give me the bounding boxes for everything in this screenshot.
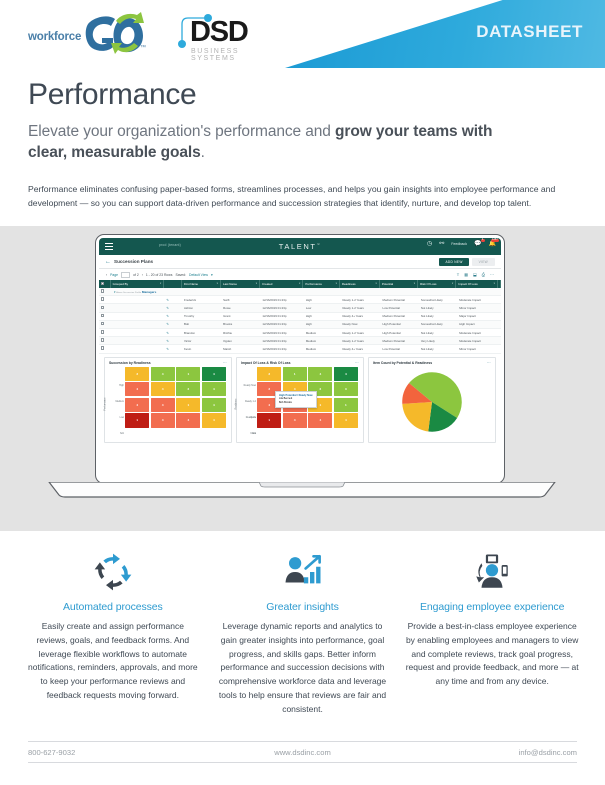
- item-count-pie-card: Item Count by Potential & Readiness ⋯: [368, 357, 496, 443]
- row-range-label: 1 - 20 of 23 Rows: [146, 273, 173, 277]
- laptop-base: [47, 482, 557, 498]
- footer-website: www.dsdinc.com: [211, 748, 394, 757]
- subtitle-part-1: Elevate your organization's performance …: [28, 123, 335, 140]
- page-title: Performance: [28, 78, 577, 112]
- row-checkbox[interactable]: [101, 338, 104, 341]
- title-block: Performance Elevate your organization's …: [0, 68, 605, 210]
- cell-first: Ashton: [182, 304, 221, 312]
- card-menu-icon[interactable]: ⋯: [223, 361, 227, 365]
- group-name: Managers: [142, 290, 156, 294]
- environment-label: prod (tenant): [159, 243, 181, 247]
- bell-icon[interactable]: 🔔1287: [489, 241, 496, 247]
- cell-position: 0.00: [499, 345, 501, 353]
- footer-phone: 800-627-9032: [28, 748, 211, 757]
- cell-risk: Not Likely: [419, 329, 457, 337]
- feature-title: Automated processes: [26, 601, 200, 613]
- col-last-name[interactable]: Last Name▾: [221, 280, 260, 288]
- y-tick-label: Low: [108, 410, 124, 426]
- person-devices-icon: [405, 549, 579, 595]
- chart-title: Impact Of Loss & Risk Of Loss: [237, 358, 363, 367]
- row-select-cell: [99, 345, 111, 353]
- heatmap-cell[interactable]: 1: [176, 367, 200, 381]
- row-edit-cell: ✎: [164, 345, 182, 353]
- cell-first: Frederick: [182, 296, 221, 304]
- footer-email: info@dsdinc.com: [394, 748, 577, 757]
- cell-performance: Medium: [304, 345, 341, 353]
- cell-potential: Medium Potential: [381, 296, 419, 304]
- heatmap-tooltip: High Potential / Ready Now Lila Bennett …: [275, 391, 317, 408]
- col-grouped-by[interactable]: Grouped By▾: [111, 280, 165, 288]
- feature-body: Easily create and assign performance rev…: [26, 620, 200, 703]
- chart-title: Item Count by Potential & Readiness: [369, 358, 495, 367]
- cell-risk: Not Likely: [419, 304, 457, 312]
- edit-row-icon[interactable]: ✎: [166, 306, 169, 310]
- col-label: Risk Of Loss: [420, 282, 436, 286]
- cell-position: 0.00: [499, 329, 501, 337]
- sub-bar-buttons: ADD NEW VIEW: [439, 258, 495, 266]
- sort-caret-icon[interactable]: ▾: [336, 280, 337, 288]
- col-readiness[interactable]: Readiness▾: [340, 280, 380, 288]
- col-first-name[interactable]: First Name▾: [182, 280, 221, 288]
- workforce-go-logo: workforce ™: [28, 12, 153, 58]
- heatmap-cell[interactable]: 4: [334, 413, 358, 427]
- add-new-button[interactable]: ADD NEW: [439, 258, 468, 266]
- y-tick-label: Medium: [108, 394, 124, 410]
- brand-tm: ™: [317, 242, 322, 246]
- cell-impact: Moderate Impact: [457, 329, 499, 337]
- table-row[interactable]: ✎KevinMarsh12/16/2019 01:23pMediumReady …: [99, 345, 501, 353]
- col-label: Readiness: [342, 282, 356, 286]
- person-bar-chart-icon: [216, 549, 390, 595]
- cell-created: 12/16/2019 01:23p: [260, 304, 304, 312]
- cell-performance: Medium: [304, 329, 341, 337]
- cell-risk: Not Likely: [419, 312, 457, 320]
- saved-view-select[interactable]: Default View: [189, 273, 208, 277]
- select-all-checkbox[interactable]: [101, 282, 104, 285]
- col-edit: [164, 280, 182, 288]
- row-checkbox[interactable]: [101, 314, 104, 317]
- cell-empty: [111, 296, 165, 304]
- row-select-cell: [99, 296, 111, 304]
- feature-title: Engaging employee experience: [405, 601, 579, 613]
- chart-title: Succession by Readiness: [105, 358, 231, 367]
- row-select-cell: [99, 329, 111, 337]
- cell-readiness: Ready 1-2 Years: [340, 329, 380, 337]
- card-menu-icon[interactable]: ⋯: [487, 361, 491, 365]
- row-select-cell: [99, 312, 111, 320]
- col-potential[interactable]: Potential▾: [380, 280, 418, 288]
- cell-first: Timothy: [182, 312, 221, 320]
- heatmap-cell[interactable]: 3: [125, 367, 149, 381]
- cell-performance: High: [304, 312, 341, 320]
- col-label: Potential: [382, 282, 393, 286]
- cell-performance: Low: [304, 304, 341, 312]
- edit-row-icon[interactable]: ✎: [166, 347, 169, 351]
- laptop-frame: prod (tenant) TALENT™ ◷ ⚯ Feedback 💬4 🔔1…: [95, 234, 505, 484]
- pie-chart: [369, 367, 495, 437]
- edit-row-icon[interactable]: ✎: [166, 339, 169, 343]
- dsd-logo: DSD BUSINESS SYSTEMS: [172, 10, 284, 60]
- heatmap-cell[interactable]: 4: [151, 367, 175, 381]
- features-row: Automated processes Easily create and as…: [0, 531, 605, 716]
- row-edit-cell: ✎: [164, 312, 182, 320]
- cell-last: Brooks: [221, 320, 260, 328]
- heatmap-cell[interactable]: 4: [334, 367, 358, 381]
- heatmap-cell[interactable]: 4: [176, 413, 200, 427]
- more-options-icon[interactable]: ⋯: [490, 272, 494, 277]
- row-edit-cell: ✎: [164, 296, 182, 304]
- cell-created: 12/16/2019 01:23p: [260, 296, 304, 304]
- row-checkbox[interactable]: [101, 330, 104, 333]
- cell-readiness: Ready 4+ Years: [340, 345, 380, 353]
- chat-icon[interactable]: 💬4: [474, 241, 481, 247]
- sort-caret-icon[interactable]: ▾: [494, 280, 495, 288]
- y-tick-label: Ready 1-2 Years: [240, 394, 256, 410]
- cell-performance: High: [304, 320, 341, 328]
- cell-readiness: Ready Now: [340, 320, 380, 328]
- y-tick-label: Ready 4+ Years: [240, 410, 256, 426]
- col-position[interactable]: Posi: [498, 280, 501, 288]
- next-page-icon[interactable]: ›: [142, 273, 143, 277]
- cell-last: Ogden: [221, 337, 260, 345]
- grid-toolbar-right: T ▦ ⬓ ⎙ ⋯: [457, 272, 494, 277]
- datasheet-page: DATASHEET workforce ™ DSD BUSINESS SYSTE…: [0, 0, 605, 785]
- y-tick-label: N/A: [108, 426, 124, 442]
- breadcrumb: Succession Plans: [114, 259, 153, 264]
- edit-row-icon[interactable]: ✎: [166, 298, 169, 302]
- pie-slice[interactable]: [402, 402, 432, 432]
- dsd-logo-text: DSD: [190, 16, 248, 49]
- tooltip-line: Bob Brooks: [279, 401, 313, 405]
- cell-readiness: Ready 1-2 Years: [340, 337, 380, 345]
- trademark-symbol: ™: [140, 45, 146, 51]
- text-filter-icon[interactable]: T: [457, 272, 459, 277]
- heatmap-cell[interactable]: 4: [125, 398, 149, 412]
- clock-icon[interactable]: ◷: [427, 241, 432, 247]
- cell-potential: Medium Potential: [381, 312, 419, 320]
- talent-app-screenshot: prod (tenant) TALENT™ ◷ ⚯ Feedback 💬4 🔔1…: [99, 238, 501, 480]
- col-label: Performance: [305, 282, 322, 286]
- heatmap-cell[interactable]: 1: [334, 398, 358, 412]
- cell-readiness: Ready 1-2 Years: [340, 296, 380, 304]
- page-footer: 800-627-9032 www.dsdinc.com info@dsdinc.…: [28, 741, 577, 763]
- page-input[interactable]: [121, 272, 130, 278]
- row-checkbox[interactable]: [101, 289, 104, 292]
- succession-plans-table: Grouped By▾ First Name▾ Last Name▾ Creat…: [99, 280, 501, 354]
- cell-last: Swift: [221, 296, 260, 304]
- col-risk-of-loss[interactable]: Risk Of Loss▾: [418, 280, 456, 288]
- dsd-logo-tagline: BUSINESS SYSTEMS: [191, 48, 284, 62]
- app-top-bar-actions: ◷ ⚯ Feedback 💬4 🔔1287: [427, 241, 496, 247]
- back-arrow-icon[interactable]: ←: [105, 259, 111, 265]
- card-menu-icon[interactable]: ⋯: [355, 361, 359, 365]
- cell-last: Rowe: [221, 304, 260, 312]
- circular-arrows-icon: [26, 549, 200, 595]
- go-logo-mark: [82, 12, 148, 61]
- cell-position: 0.00: [499, 312, 501, 320]
- heatmap-cell[interactable]: 1: [283, 367, 307, 381]
- heatmap-cell[interactable]: 4: [125, 382, 149, 396]
- col-label: Posi: [500, 282, 501, 286]
- sort-caret-icon[interactable]: ▾: [376, 280, 377, 288]
- cell-first: Kevin: [182, 345, 221, 353]
- row-select-cell: [99, 337, 111, 345]
- app-top-bar: prod (tenant) TALENT™ ◷ ⚯ Feedback 💬4 🔔1…: [99, 238, 501, 255]
- heatmap-cell[interactable]: 4: [202, 413, 226, 427]
- tooltip-title: High Potential / Ready Now: [279, 394, 313, 397]
- row-checkbox[interactable]: [101, 306, 104, 309]
- select-all-checkbox-cell[interactable]: [99, 280, 111, 288]
- cell-empty: [111, 304, 165, 312]
- app-brand-title: TALENT™: [279, 242, 321, 251]
- sort-caret-icon[interactable]: ▾: [256, 280, 257, 288]
- table-header-row: Grouped By▾ First Name▾ Last Name▾ Creat…: [99, 280, 501, 288]
- y-tick-label: Not: [240, 426, 256, 442]
- cell-risk: Not Likely: [419, 345, 457, 353]
- page-label: Page: [110, 273, 118, 277]
- chart-y-axis-ticks: Ready NowReady 1-2 YearsReady 4+ YearsNo…: [240, 378, 256, 443]
- saved-label: Saved:: [175, 273, 186, 277]
- sort-caret-icon[interactable]: ▾: [299, 280, 300, 288]
- heatmap-cell[interactable]: 4: [151, 398, 175, 412]
- group-caption: Above Succession Profile: [116, 292, 141, 294]
- row-select-cell: [99, 304, 111, 312]
- plug-icon[interactable]: ⚯: [439, 241, 444, 247]
- print-icon[interactable]: ⎙: [482, 272, 485, 277]
- heatmap-cell[interactable]: 4: [202, 398, 226, 412]
- cell-potential: Low Potential: [381, 304, 419, 312]
- succession-by-readiness-card: Succession by Readiness ⋯ Performance Hi…: [104, 357, 232, 443]
- heatmap-cell[interactable]: 4: [308, 413, 332, 427]
- cell-created: 12/16/2019 01:23p: [260, 329, 304, 337]
- feature-automated-processes: Automated processes Easily create and as…: [20, 549, 206, 716]
- cell-readiness: Ready 4+ Years: [340, 312, 380, 320]
- cell-risk: Very Likely: [419, 337, 457, 345]
- col-label: Impact Of Loss: [458, 282, 477, 286]
- col-label: Last Name: [223, 282, 237, 286]
- page-header: DATASHEET workforce ™ DSD BUSINESS SYSTE…: [0, 0, 605, 68]
- cell-position: 0.00: [499, 296, 501, 304]
- chart-y-axis-title: Readiness: [235, 398, 237, 409]
- cell-potential: Medium Potential: [381, 337, 419, 345]
- heatmap-cell[interactable]: 3: [257, 367, 281, 381]
- intro-paragraph: Performance eliminates confusing paper-b…: [28, 182, 577, 211]
- cell-impact: Moderate Impact: [457, 296, 499, 304]
- heatmap-cell[interactable]: 4: [202, 382, 226, 396]
- subtitle-end: .: [201, 144, 205, 161]
- col-impact-of-loss[interactable]: Impact Of Loss▾: [456, 280, 498, 288]
- columns-icon[interactable]: ▦: [464, 272, 468, 277]
- cell-last: Marsh: [221, 345, 260, 353]
- saved-view-caret-icon[interactable]: ▾: [211, 273, 213, 277]
- workforce-logo-word: workforce: [28, 31, 81, 43]
- row-select-cell: [99, 320, 111, 328]
- heatmap-cell[interactable]: 4: [151, 413, 175, 427]
- view-button[interactable]: VIEW: [472, 258, 495, 266]
- cell-empty: [111, 329, 165, 337]
- cell-created: 12/16/2019 01:23p: [260, 345, 304, 353]
- sort-caret-icon[interactable]: ▾: [160, 280, 161, 288]
- cell-performance: High: [304, 296, 341, 304]
- edit-row-icon[interactable]: ✎: [166, 314, 169, 318]
- edit-row-icon[interactable]: ✎: [166, 322, 169, 326]
- bell-badge: 1287: [491, 239, 499, 242]
- cell-position: 0.00: [499, 320, 501, 328]
- y-tick-label: Ready Now: [240, 378, 256, 394]
- cell-impact: Minor Impact: [457, 345, 499, 353]
- cell-impact: Major Impact: [457, 312, 499, 320]
- hamburger-menu-icon[interactable]: [105, 241, 113, 251]
- cell-created: 12/16/2019 01:23p: [260, 320, 304, 328]
- cell-readiness: Ready 1-2 Years: [340, 304, 380, 312]
- col-label: First Name: [184, 282, 198, 286]
- feature-body: Provide a best-in-class employee experie…: [405, 620, 579, 689]
- cell-first: Victor: [182, 337, 221, 345]
- cell-empty: [111, 312, 165, 320]
- cell-potential: High Potential: [381, 329, 419, 337]
- cell-created: 12/16/2019 01:23p: [260, 312, 304, 320]
- cell-risk: Somewhat Likely: [419, 296, 457, 304]
- cell-last: Ritchie: [221, 329, 260, 337]
- col-created[interactable]: Created▾: [260, 280, 303, 288]
- heatmap-cell[interactable]: 4: [283, 413, 307, 427]
- cell-impact: Minor Impact: [457, 304, 499, 312]
- cell-performance: Medium: [304, 337, 341, 345]
- brand-text: TALENT: [279, 242, 317, 251]
- product-screenshot-band: prod (tenant) TALENT™ ◷ ⚯ Feedback 💬4 🔔1…: [0, 226, 605, 531]
- feature-greater-insights: Greater insights Leverage dynamic report…: [210, 549, 396, 716]
- cell-last: Grant: [221, 312, 260, 320]
- row-checkbox[interactable]: [101, 346, 104, 349]
- heatmap-cell[interactable]: 4: [151, 382, 175, 396]
- sort-caret-icon[interactable]: ▾: [217, 280, 218, 288]
- chart-y-axis-title: Performance: [105, 397, 107, 410]
- feature-body: Leverage dynamic reports and analytics t…: [216, 620, 390, 716]
- row-checkbox[interactable]: [101, 297, 104, 300]
- heatmap-cell[interactable]: 3: [334, 382, 358, 396]
- cell-first: Brandon: [182, 329, 221, 337]
- row-checkbox[interactable]: [101, 322, 104, 325]
- export-icon[interactable]: ⬓: [473, 272, 477, 277]
- cell-impact: High Impact: [457, 320, 499, 328]
- page-subtitle: Elevate your organization's performance …: [28, 122, 498, 164]
- cell-empty: [111, 320, 165, 328]
- cell-created: 12/16/2019 01:23p: [260, 337, 304, 345]
- prev-page-icon[interactable]: ‹: [106, 273, 107, 277]
- cell-empty: [111, 345, 165, 353]
- grid-toolbar: ‹ Page of 2 › 1 - 20 of 23 Rows Saved: D…: [99, 269, 501, 280]
- heatmap-cell[interactable]: 1: [125, 413, 149, 427]
- col-performance[interactable]: Performance▾: [303, 280, 340, 288]
- y-tick-label: High: [108, 378, 124, 394]
- cell-risk: Somewhat Likely: [419, 320, 457, 328]
- cell-impact: Moderate Impact: [457, 337, 499, 345]
- cell-potential: High Potential: [381, 320, 419, 328]
- row-edit-cell: ✎: [164, 329, 182, 337]
- col-label: Created: [262, 282, 272, 286]
- row-edit-cell: ✎: [164, 320, 182, 328]
- col-label: Grouped By: [113, 282, 128, 286]
- edit-row-icon[interactable]: ✎: [166, 331, 169, 335]
- cell-position: 0.00: [499, 337, 501, 345]
- heatmap-cell[interactable]: 1: [257, 413, 281, 427]
- row-edit-cell: ✎: [164, 304, 182, 312]
- chat-badge: 4: [481, 239, 485, 242]
- heatmap-cell[interactable]: 1: [176, 398, 200, 412]
- dashboard-charts-row: Succession by Readiness ⋯ Performance Hi…: [99, 354, 501, 443]
- feature-engaging-employee-experience: Engaging employee experience Provide a b…: [399, 549, 585, 716]
- datasheet-label: DATASHEET: [476, 22, 583, 42]
- cell-potential: Low Potential: [381, 345, 419, 353]
- cell-position: 0.00: [499, 304, 501, 312]
- heatmap-cell[interactable]: 2: [176, 382, 200, 396]
- sort-caret-icon[interactable]: ▾: [452, 280, 453, 288]
- sort-caret-icon[interactable]: ▾: [414, 280, 415, 288]
- table-body: ✎FrederickSwift12/16/2019 01:23pHighRead…: [99, 296, 501, 353]
- heatmap-cell[interactable]: 4: [202, 367, 226, 381]
- cell-first: Bob: [182, 320, 221, 328]
- app-sub-bar: ← Succession Plans ADD NEW VIEW: [99, 255, 501, 269]
- cell-empty: [111, 337, 165, 345]
- feedback-link[interactable]: Feedback: [451, 242, 467, 246]
- feature-title: Greater insights: [216, 601, 390, 613]
- chart-y-axis-ticks: HighMediumLowN/A: [108, 378, 124, 443]
- impact-risk-of-loss-card: Impact Of Loss & Risk Of Loss ⋯ Readines…: [236, 357, 364, 443]
- heatmap-cell[interactable]: 4: [308, 367, 332, 381]
- page-of-label: of 2: [133, 273, 139, 277]
- row-edit-cell: ✎: [164, 337, 182, 345]
